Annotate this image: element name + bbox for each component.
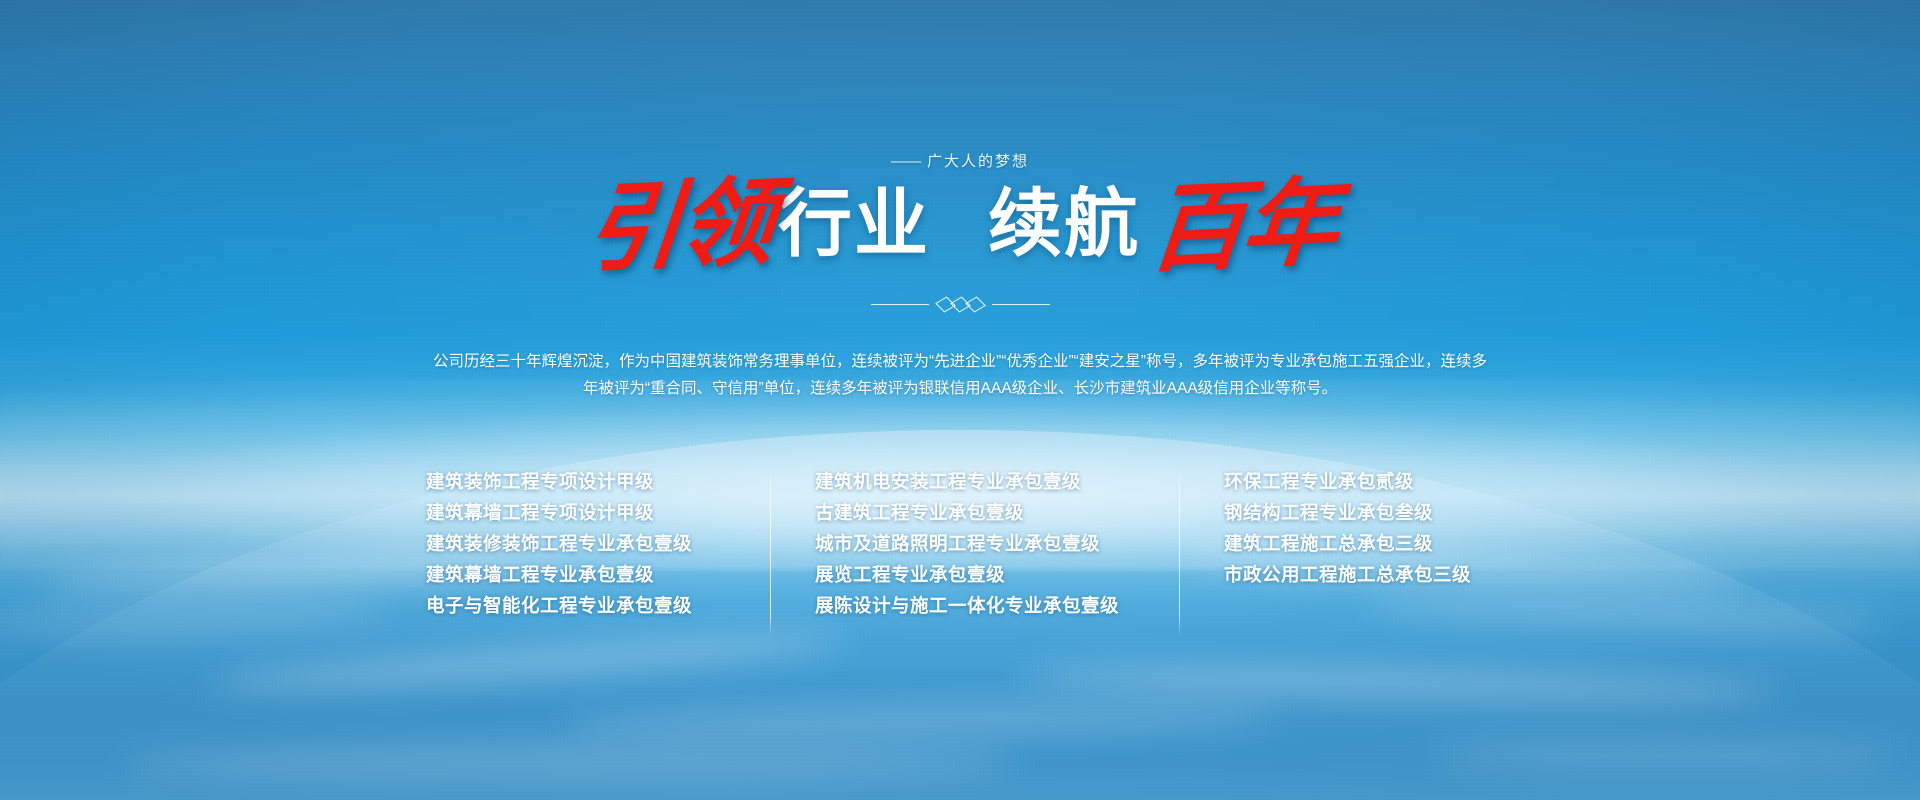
divider-diamonds bbox=[939, 298, 982, 311]
hero-banner: ——广大人的梦想 引领行业续航百年 公司历经三十年辉煌沉淀，作为中国建筑装饰常务… bbox=[0, 0, 1920, 800]
qualification-item: 展陈设计与施工一体化专业承包壹级 bbox=[815, 590, 1135, 621]
qualification-item: 建筑机电安装工程专业承包壹级 bbox=[815, 466, 1135, 497]
qualification-item: 展览工程专业承包壹级 bbox=[815, 559, 1135, 590]
hero-paragraph: 公司历经三十年辉煌沉淀，作为中国建筑装饰常务理事单位，连续被评为“先进企业”“优… bbox=[430, 348, 1490, 402]
qualification-item: 建筑幕墙工程专项设计甲级 bbox=[426, 497, 726, 528]
qualification-item: 古建筑工程专业承包壹级 bbox=[815, 497, 1135, 528]
qualification-item: 建筑工程施工总承包三级 bbox=[1224, 528, 1494, 559]
headline-white-2: 续航 bbox=[988, 187, 1140, 261]
qualification-item: 环保工程专业承包贰级 bbox=[1224, 466, 1494, 497]
divider-line-left bbox=[871, 304, 929, 305]
column-divider bbox=[770, 470, 771, 636]
qualification-column-2: 建筑机电安装工程专业承包壹级 古建筑工程专业承包壹级 城市及道路照明工程专业承包… bbox=[815, 466, 1135, 621]
divider-line-right bbox=[992, 304, 1050, 305]
qualification-column-1: 建筑装饰工程专项设计甲级 建筑幕墙工程专项设计甲级 建筑装修装饰工程专业承包壹级… bbox=[426, 466, 726, 621]
qualification-item: 市政公用工程施工总承包三级 bbox=[1224, 559, 1494, 590]
column-divider bbox=[1179, 470, 1180, 636]
headline-red-1: 引领 bbox=[579, 174, 777, 278]
eyebrow-text: 广大人的梦想 bbox=[927, 153, 1029, 170]
headline-red-2: 百年 bbox=[1143, 174, 1341, 278]
hero-headline: 引领行业续航百年 bbox=[0, 178, 1920, 274]
headline-white-1: 行业 bbox=[778, 187, 930, 261]
hero-eyebrow: ——广大人的梦想 bbox=[0, 150, 1920, 171]
qualification-item: 建筑装饰工程专项设计甲级 bbox=[426, 466, 726, 497]
qualification-item: 电子与智能化工程专业承包壹级 bbox=[426, 590, 726, 621]
qualification-item: 建筑幕墙工程专业承包壹级 bbox=[426, 559, 726, 590]
diamond-divider-icon bbox=[0, 298, 1920, 311]
qualification-column-3: 环保工程专业承包贰级 钢结构工程专业承包叁级 建筑工程施工总承包三级 市政公用工… bbox=[1224, 466, 1494, 590]
qualifications-list: 建筑装饰工程专项设计甲级 建筑幕墙工程专项设计甲级 建筑装修装饰工程专业承包壹级… bbox=[426, 466, 1494, 636]
hero-content: ——广大人的梦想 引领行业续航百年 公司历经三十年辉煌沉淀，作为中国建筑装饰常务… bbox=[0, 0, 1920, 800]
qualification-item: 建筑装修装饰工程专业承包壹级 bbox=[426, 528, 726, 559]
qualification-item: 城市及道路照明工程专业承包壹级 bbox=[815, 528, 1135, 559]
eyebrow-dash: —— bbox=[891, 153, 921, 170]
qualification-item: 钢结构工程专业承包叁级 bbox=[1224, 497, 1494, 528]
